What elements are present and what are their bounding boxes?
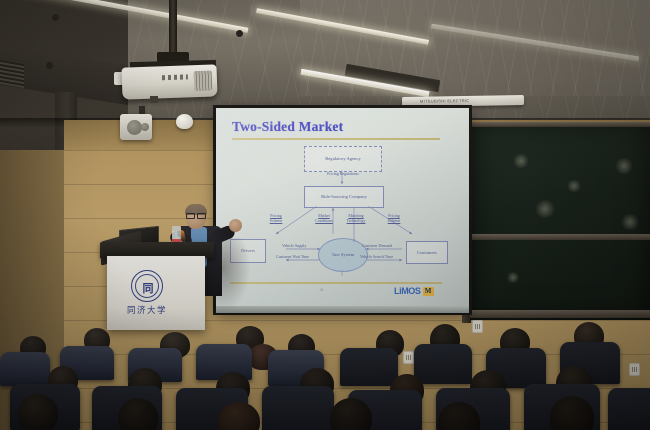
slide: Two-Sided Market bbox=[216, 108, 469, 312]
chalkboard-frame-top bbox=[470, 122, 650, 127]
node-ride-sourcing-company: Ride-Sourcing Company bbox=[304, 186, 384, 208]
edge-label-matching-technology: MatchingTechnology bbox=[340, 214, 372, 223]
edge-label-customer-wait-time: Customer Wait Time bbox=[276, 255, 309, 260]
edge-label-customer-demand: Customer Demand bbox=[362, 244, 392, 249]
limos-logo: LiMOS M bbox=[394, 286, 434, 296]
projector-mount-pole bbox=[169, 0, 177, 58]
lecture-hall-photo: MITSUBISHI ELECTRIC Two-Sided Market bbox=[0, 0, 650, 430]
seat bbox=[414, 344, 472, 384]
slide-footer-rule bbox=[230, 282, 442, 284]
michigan-badge-icon: M bbox=[423, 287, 434, 296]
chalk-tray-mid bbox=[470, 234, 650, 240]
projection-screen: Two-Sided Market bbox=[216, 108, 469, 312]
edge-label-market-conditions: MarketConditions bbox=[309, 214, 339, 223]
projector-vent bbox=[194, 71, 213, 92]
smoke-detector-icon bbox=[176, 114, 193, 129]
edge-label-pricing-regulations: Pricing Regulations bbox=[312, 172, 374, 177]
audience-head bbox=[550, 396, 594, 430]
projector-foot bbox=[150, 96, 158, 103]
ceiling-anchor bbox=[52, 14, 59, 21]
seat bbox=[262, 386, 334, 430]
edge-label-pricing-scheme-left: PricingScheme bbox=[264, 214, 288, 223]
chalk-residue bbox=[512, 154, 530, 168]
glasses-icon bbox=[186, 213, 206, 217]
node-label: Customers bbox=[417, 250, 437, 255]
seat bbox=[0, 352, 50, 386]
node-customers: Customers bbox=[406, 241, 448, 264]
chalk-residue bbox=[620, 214, 640, 230]
audience-head bbox=[218, 402, 260, 430]
seat bbox=[608, 388, 650, 430]
chalk-tray-bottom bbox=[470, 310, 650, 318]
speaker-tweeter-icon bbox=[141, 123, 149, 131]
edge-label-vehicle-search-time: Vehicle Search Time bbox=[360, 255, 393, 260]
node-label: Regulatory Agency bbox=[325, 156, 361, 161]
chalkboard bbox=[470, 122, 650, 320]
housing-brand-label: MITSUBISHI ELECTRIC bbox=[420, 98, 470, 104]
wall-speaker bbox=[120, 114, 152, 140]
screen-bottom-bar bbox=[216, 306, 469, 313]
slide-page-number: 11 bbox=[320, 288, 324, 292]
seal-glyph: 同 bbox=[143, 284, 152, 297]
ceiling-anchor bbox=[46, 62, 53, 69]
chalk-residue bbox=[614, 158, 634, 174]
audience bbox=[0, 318, 650, 430]
seat bbox=[340, 348, 398, 386]
limos-wordmark: LiMOS bbox=[394, 286, 421, 296]
university-name-label: 同济大学 bbox=[121, 304, 173, 316]
audience-head bbox=[330, 398, 372, 430]
node-regulatory-agency: Regulatory Agency bbox=[304, 146, 382, 172]
node-label: Taxi System bbox=[332, 252, 355, 257]
projector-buttons[interactable] bbox=[162, 74, 188, 80]
audience-head bbox=[118, 398, 158, 430]
bottle-cap bbox=[172, 226, 181, 231]
air-vent-icon bbox=[0, 60, 24, 88]
audience-head bbox=[18, 394, 58, 430]
chalk-residue bbox=[506, 272, 520, 283]
presenter-hand-right bbox=[229, 219, 242, 232]
node-label: Ride-Sourcing Company bbox=[321, 194, 367, 199]
chalk-residue bbox=[566, 180, 582, 192]
edge-label-pricing-scheme-right: PricingScheme bbox=[382, 214, 406, 223]
university-seal-icon: 同 bbox=[131, 270, 163, 302]
chalk-residue bbox=[534, 200, 556, 218]
edge-label-vehicle-supply: Vehicle Supply bbox=[282, 244, 306, 249]
ceiling-anchor bbox=[236, 30, 243, 37]
seal-inner-ring: 同 bbox=[135, 274, 159, 298]
speaker-cone-icon bbox=[127, 120, 142, 135]
ceiling-projector bbox=[121, 64, 217, 99]
